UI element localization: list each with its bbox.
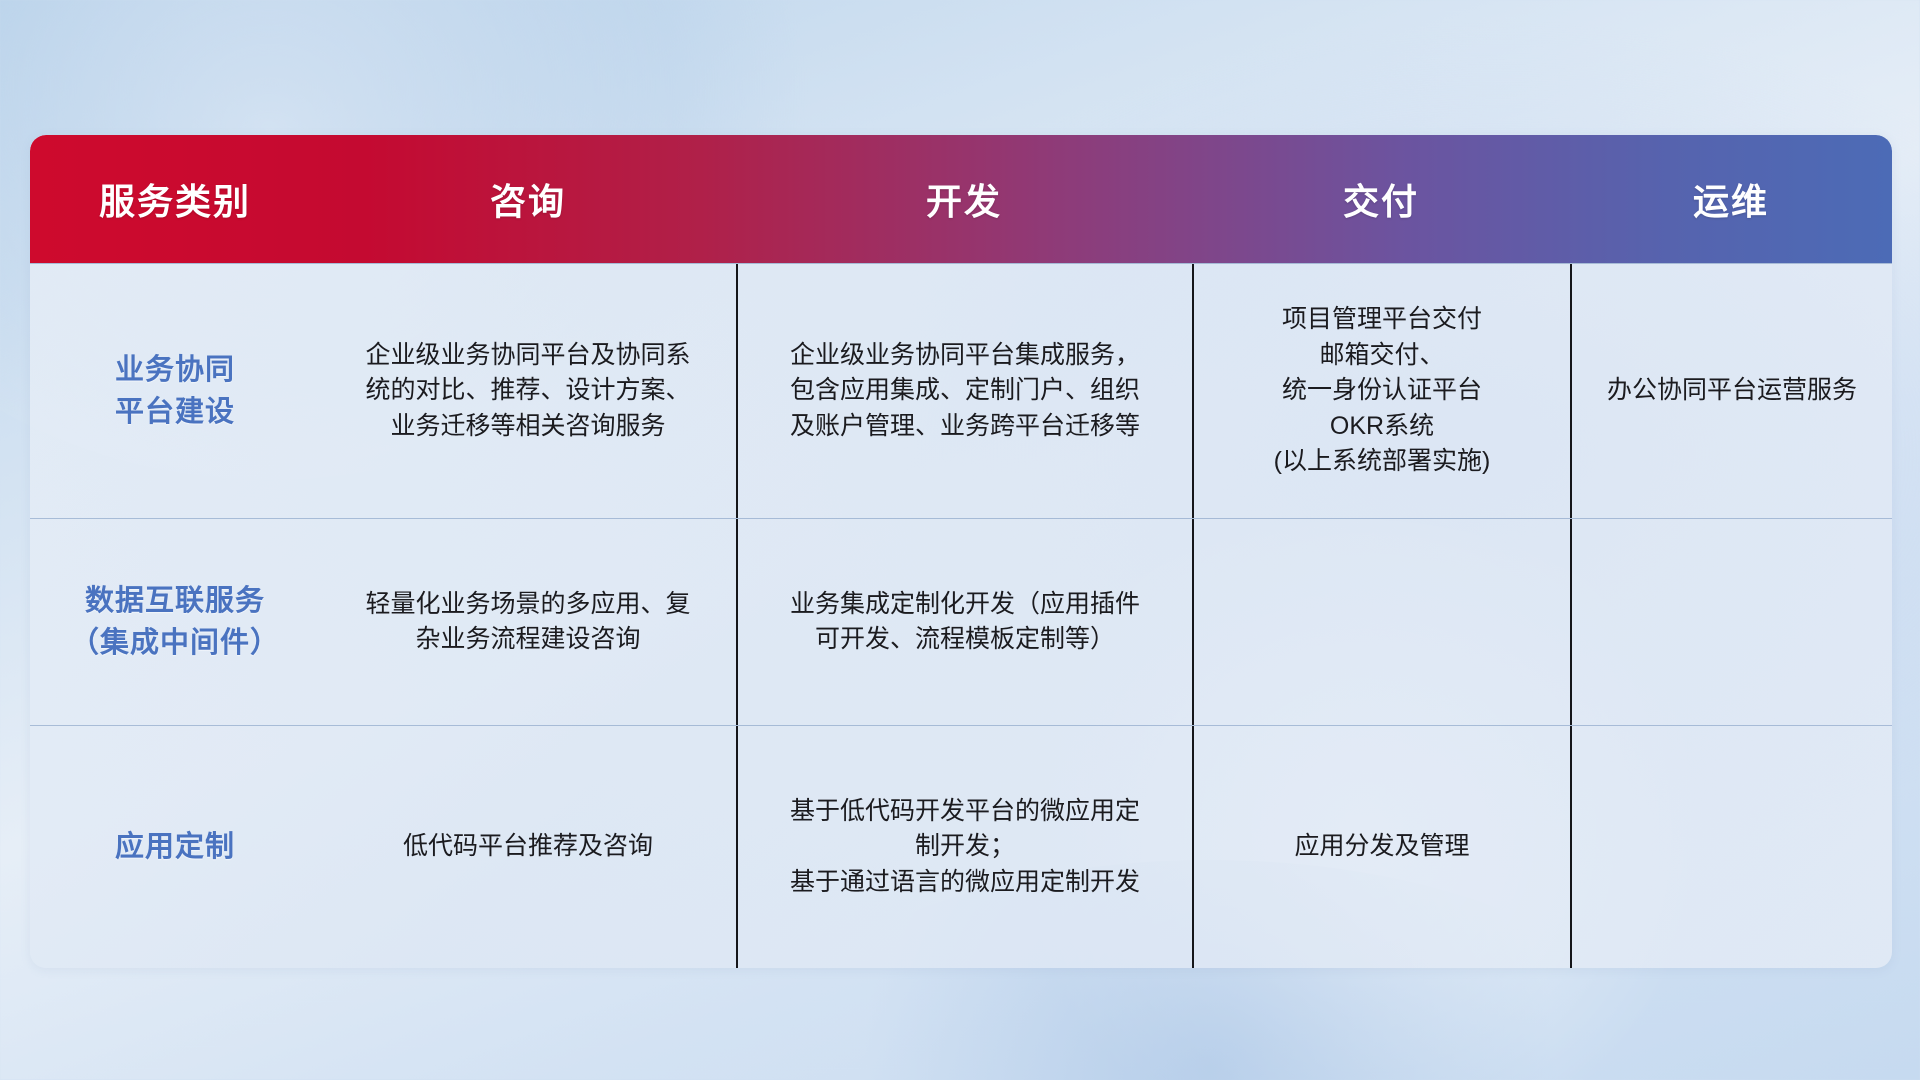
column-header-category: 服务类别 [30, 135, 320, 263]
cell-consulting-row-3: 低代码平台推荐及咨询 [320, 726, 736, 968]
row-label-app-customization: 应用定制 [30, 726, 320, 968]
row-label-business-collaboration: 业务协同 平台建设 [30, 264, 320, 518]
table-row: 业务协同 平台建设 企业级业务协同平台及协同系 统的对比、推荐、设计方案、 业务… [30, 263, 1892, 518]
cell-operations-row-3 [1570, 726, 1892, 968]
cell-development-row-2: 业务集成定制化开发（应用插件 可开发、流程模板定制等） [736, 519, 1192, 725]
cell-consulting-row-2: 轻量化业务场景的多应用、复 杂业务流程建设咨询 [320, 519, 736, 725]
column-header-development: 开发 [736, 135, 1192, 263]
row-label-data-interconnect: 数据互联服务 （集成中间件） [30, 519, 320, 725]
service-matrix-table: 服务类别 咨询 开发 交付 运维 业务协同 平台建设 企业级业务协同平台及协同系… [30, 135, 1892, 968]
column-header-delivery: 交付 [1192, 135, 1570, 263]
cell-operations-row-2 [1570, 519, 1892, 725]
cell-delivery-row-1: 项目管理平台交付 邮箱交付、 统一身份认证平台 OKR系统 (以上系统部署实施) [1192, 264, 1570, 518]
cell-development-row-3: 基于低代码开发平台的微应用定 制开发； 基于通过语言的微应用定制开发 [736, 726, 1192, 968]
column-header-consulting: 咨询 [320, 135, 736, 263]
table-row: 数据互联服务 （集成中间件） 轻量化业务场景的多应用、复 杂业务流程建设咨询 业… [30, 518, 1892, 725]
table-header-row: 服务类别 咨询 开发 交付 运维 [30, 135, 1892, 263]
cell-operations-row-1: 办公协同平台运营服务 [1570, 264, 1892, 518]
cell-delivery-row-2 [1192, 519, 1570, 725]
table-row: 应用定制 低代码平台推荐及咨询 基于低代码开发平台的微应用定 制开发； 基于通过… [30, 725, 1892, 968]
cell-delivery-row-3: 应用分发及管理 [1192, 726, 1570, 968]
cell-development-row-1: 企业级业务协同平台集成服务， 包含应用集成、定制门户、组织 及账户管理、业务跨平… [736, 264, 1192, 518]
cell-consulting-row-1: 企业级业务协同平台及协同系 统的对比、推荐、设计方案、 业务迁移等相关咨询服务 [320, 264, 736, 518]
column-header-operations: 运维 [1570, 135, 1892, 263]
